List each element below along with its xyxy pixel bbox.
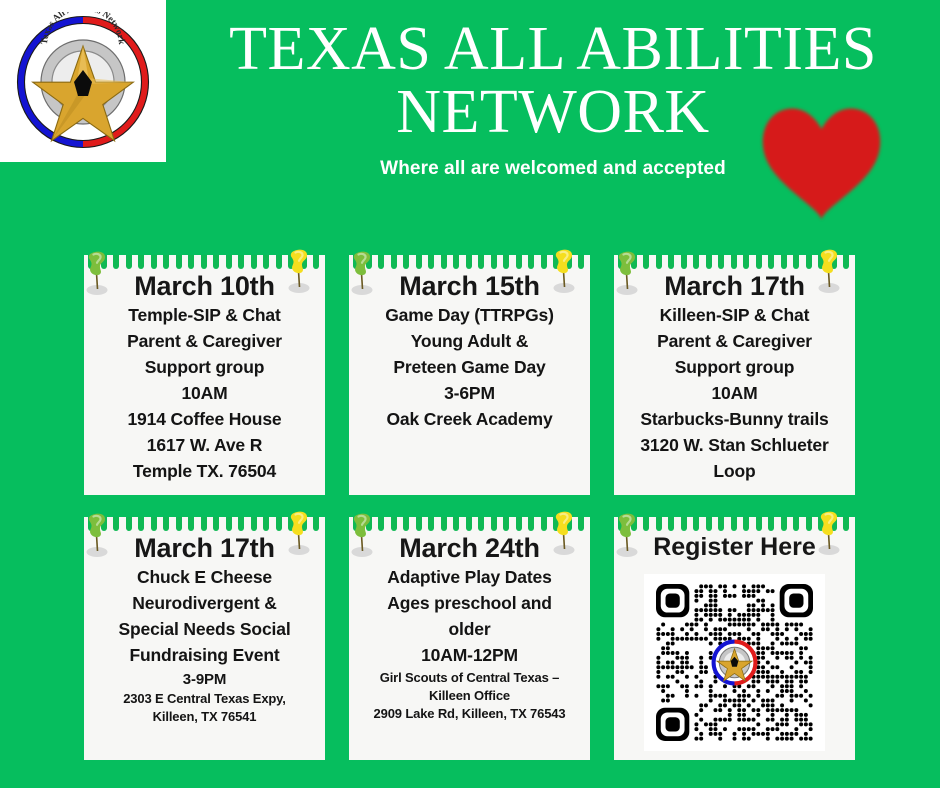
card-line: 1914 Coffee House: [89, 407, 320, 433]
card-line: Parent & Caregiver: [619, 329, 850, 355]
card-line: Game Day (TTRPGs): [354, 303, 585, 329]
card-line: older: [354, 617, 585, 643]
card-line: Chuck E Cheese: [89, 565, 320, 591]
card-body: March 24thAdaptive Play DatesAges presch…: [349, 533, 590, 723]
notepad-torn-edge: [614, 517, 855, 532]
card-line: 1617 W. Ave R: [89, 433, 320, 459]
card-line: Parent & Caregiver: [89, 329, 320, 355]
card-line: Special Needs Social: [89, 617, 320, 643]
card-line: Killeen-SIP & Chat: [619, 303, 850, 329]
heart-icon: [757, 103, 886, 221]
card-line: 3120 W. Stan Schlueter: [619, 433, 850, 459]
flyer-header: Texas All Abilities Network TEXAS ALL AB…: [0, 0, 940, 205]
card-line: Support group: [89, 355, 320, 381]
events-grid: March 10thTemple-SIP & ChatParent & Care…: [84, 255, 858, 760]
notepad-torn-edge: [349, 255, 590, 270]
card-line: Loop: [619, 459, 850, 485]
card-line: 3-9PM: [89, 669, 320, 690]
card-line: Girl Scouts of Central Texas –: [354, 669, 585, 687]
notepad-torn-edge: [349, 517, 590, 532]
card-march-17-chuck-e-cheese[interactable]: March 17thChuck E CheeseNeurodivergent &…: [84, 517, 325, 760]
card-line: Adaptive Play Dates: [354, 565, 585, 591]
card-line: Preteen Game Day: [354, 355, 585, 381]
card-line: Temple-SIP & Chat: [89, 303, 320, 329]
card-line: Starbucks-Bunny trails: [619, 407, 850, 433]
card-line: 2303 E Central Texas Expy,: [89, 690, 320, 708]
card-line: Neurodivergent &: [89, 591, 320, 617]
organization-logo-icon: Texas All Abilities Network: [10, 12, 156, 152]
card-body: March 17thChuck E CheeseNeurodivergent &…: [84, 533, 325, 726]
qr-code-panel[interactable]: [644, 574, 825, 751]
card-date: March 24th: [354, 533, 585, 564]
card-line: 10AM: [619, 381, 850, 407]
card-line: Oak Creek Academy: [354, 407, 585, 433]
register-heading: Register Here: [619, 533, 850, 562]
card-body: March 15thGame Day (TTRPGs)Young Adult &…: [349, 271, 590, 433]
card-line: 3-6PM: [354, 381, 585, 407]
card-line: 10AM-12PM: [354, 643, 585, 669]
notepad-torn-edge: [614, 255, 855, 270]
card-line: Fundraising Event: [89, 643, 320, 669]
qr-code-icon[interactable]: [656, 584, 813, 741]
page-title-line-1: TEXAS ALL ABILITIES: [166, 18, 940, 81]
card-body: March 10thTemple-SIP & ChatParent & Care…: [84, 271, 325, 485]
card-line: 10AM: [89, 381, 320, 407]
card-line: Support group: [619, 355, 850, 381]
card-march-17-killeen[interactable]: March 17thKilleen-SIP & ChatParent & Car…: [614, 255, 855, 495]
card-march-24[interactable]: March 24thAdaptive Play DatesAges presch…: [349, 517, 590, 760]
card-date: March 15th: [354, 271, 585, 302]
card-line: Killeen Office: [354, 687, 585, 705]
card-line: Killeen, TX 76541: [89, 708, 320, 726]
card-line: 2909 Lake Rd, Killeen, TX 76543: [354, 705, 585, 723]
card-march-10[interactable]: March 10thTemple-SIP & ChatParent & Care…: [84, 255, 325, 495]
notepad-torn-edge: [84, 255, 325, 270]
card-line: Temple TX. 76504: [89, 459, 320, 485]
card-date: March 17th: [619, 271, 850, 302]
card-march-15[interactable]: March 15thGame Day (TTRPGs)Young Adult &…: [349, 255, 590, 495]
card-register[interactable]: Register Here: [614, 517, 855, 760]
card-date: March 10th: [89, 271, 320, 302]
logo-box: Texas All Abilities Network: [0, 0, 166, 162]
card-line: Ages preschool and: [354, 591, 585, 617]
card-body: Register Here: [614, 533, 855, 562]
card-line: Young Adult &: [354, 329, 585, 355]
card-date: March 17th: [89, 533, 320, 564]
notepad-torn-edge: [84, 517, 325, 532]
card-body: March 17thKilleen-SIP & ChatParent & Car…: [614, 271, 855, 485]
